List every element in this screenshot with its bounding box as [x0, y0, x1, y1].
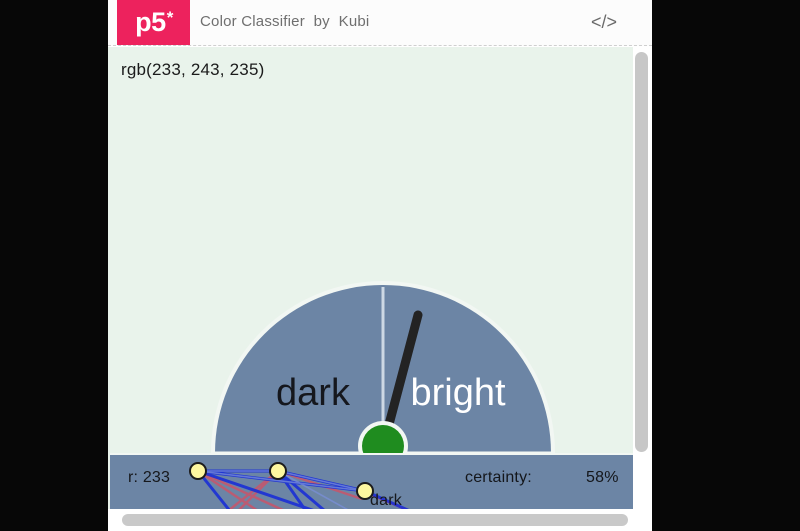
vertical-scrollbar-thumb[interactable] [635, 52, 648, 452]
p5-canvas[interactable]: rgb(233, 243, 235) dark [108, 47, 635, 509]
p5-logo-text: p5 [135, 7, 166, 38]
author-name: Kubi [339, 13, 370, 30]
code-view-icon[interactable]: </> [589, 8, 619, 36]
p5-sketch-embed: p5* Color Classifier by Kubi </> rgb(233… [108, 0, 652, 531]
gauge-label-dark: dark [276, 372, 351, 414]
byline-text: by [314, 13, 330, 30]
page-title: Color Classifier by Kubi [200, 13, 369, 30]
classification-output-label: dark [370, 492, 402, 509]
classifier-gauge: dark bright [108, 47, 635, 509]
red-channel-label: r: 233 [128, 469, 170, 487]
sketch-name: Color Classifier [200, 13, 305, 30]
certainty-label: certainty: [465, 469, 532, 487]
p5-logo-star: * [167, 8, 173, 28]
horizontal-scrollbar-thumb[interactable] [122, 514, 628, 526]
screenshot-stage: p5* Color Classifier by Kubi </> rgb(233… [0, 0, 800, 531]
sketch-header: p5* Color Classifier by Kubi </> [108, 0, 652, 46]
nn-node [190, 463, 206, 479]
classifier-info-strip: r: 233 dark certainty: 58% [110, 453, 633, 509]
p5-logo[interactable]: p5* [117, 0, 190, 45]
canvas-viewport: rgb(233, 243, 235) dark [108, 47, 635, 509]
certainty-value: 58% [586, 469, 619, 487]
gauge-label-bright: bright [410, 372, 505, 414]
nn-node [270, 463, 286, 479]
